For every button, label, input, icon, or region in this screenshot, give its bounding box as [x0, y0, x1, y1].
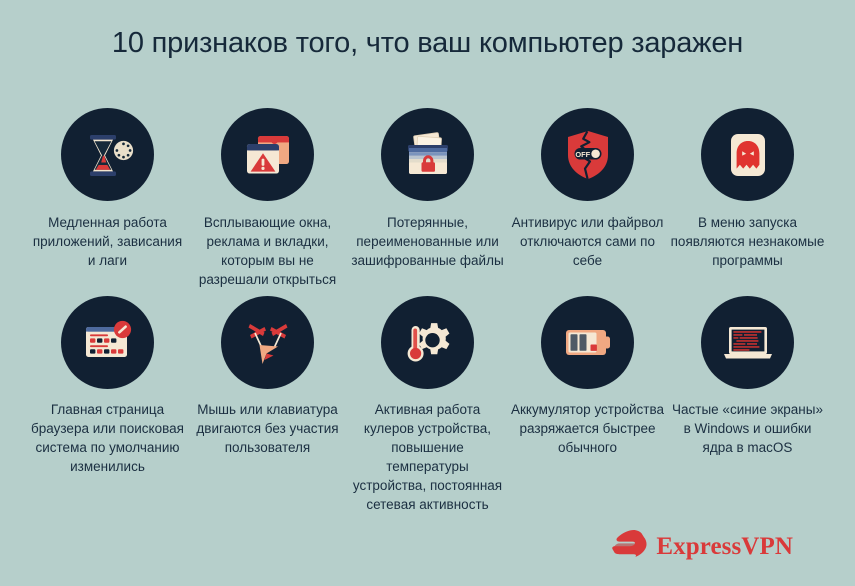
sign-item: OFF Антивирус или файрвол отключаются са… — [508, 108, 668, 270]
laptop-error-code-icon — [701, 296, 794, 389]
sign-caption: Антивирус или файрвол отключаются сами п… — [510, 213, 666, 270]
sign-caption: В меню запуска появляются незнакомые про… — [670, 213, 826, 270]
signs-grid: Медленная работа приложений, зависания и… — [0, 108, 855, 515]
infographic-root: 10 признаков того, что ваш компьютер зар… — [0, 0, 855, 586]
sign-item: Частые «синие экраны» в Windows и ошибки… — [668, 296, 828, 457]
sign-item: Аккумулятор устройства разряжается быстр… — [508, 296, 668, 457]
signs-row-2: Главная страница браузера или поисковая … — [0, 296, 855, 515]
ghost-app-tile-icon — [701, 108, 794, 201]
draining-battery-icon — [541, 296, 634, 389]
sign-caption: Частые «синие экраны» в Windows и ошибки… — [670, 400, 826, 457]
sign-caption: Активная работа кулеров устройства, повы… — [350, 400, 506, 515]
hourglass-spinner-icon — [61, 108, 154, 201]
locked-file-box-icon — [381, 108, 474, 201]
puppet-cursor-strings-icon — [221, 296, 314, 389]
sign-caption: Потерянные, переименованные или зашифров… — [350, 213, 506, 270]
sign-caption: Главная страница браузера или поисковая … — [30, 400, 186, 477]
sign-item: В меню запуска появляются незнакомые про… — [668, 108, 828, 270]
sign-item: Всплывающие окна, реклама и вкладки, кот… — [188, 108, 348, 290]
sign-caption: Аккумулятор устройства разряжается быстр… — [510, 400, 666, 457]
signs-row-1: Медленная работа приложений, зависания и… — [0, 108, 855, 290]
sign-caption: Медленная работа приложений, зависания и… — [30, 213, 186, 270]
sign-item: Мышь или клавиатура двигаются без участи… — [188, 296, 348, 457]
sign-item: Потерянные, переименованные или зашифров… — [348, 108, 508, 270]
expressvpn-logo[interactable]: ExpressVPN — [611, 529, 793, 563]
browser-homepage-blocked-icon — [61, 296, 154, 389]
expressvpn-e-mark-icon — [611, 529, 647, 563]
page-title: 10 признаков того, что ваш компьютер зар… — [0, 26, 855, 61]
sign-item: Медленная работа приложений, зависания и… — [28, 108, 188, 270]
svg-text:OFF: OFF — [575, 150, 590, 159]
sign-item: Активная работа кулеров устройства, повы… — [348, 296, 508, 515]
expressvpn-wordmark: ExpressVPN — [656, 534, 793, 559]
thermometer-gear-icon — [381, 296, 474, 389]
popup-windows-warning-icon — [221, 108, 314, 201]
sign-item: Главная страница браузера или поисковая … — [28, 296, 188, 477]
broken-shield-off-toggle-icon: OFF — [541, 108, 634, 201]
sign-caption: Мышь или клавиатура двигаются без участи… — [190, 400, 346, 457]
sign-caption: Всплывающие окна, реклама и вкладки, кот… — [190, 213, 346, 290]
